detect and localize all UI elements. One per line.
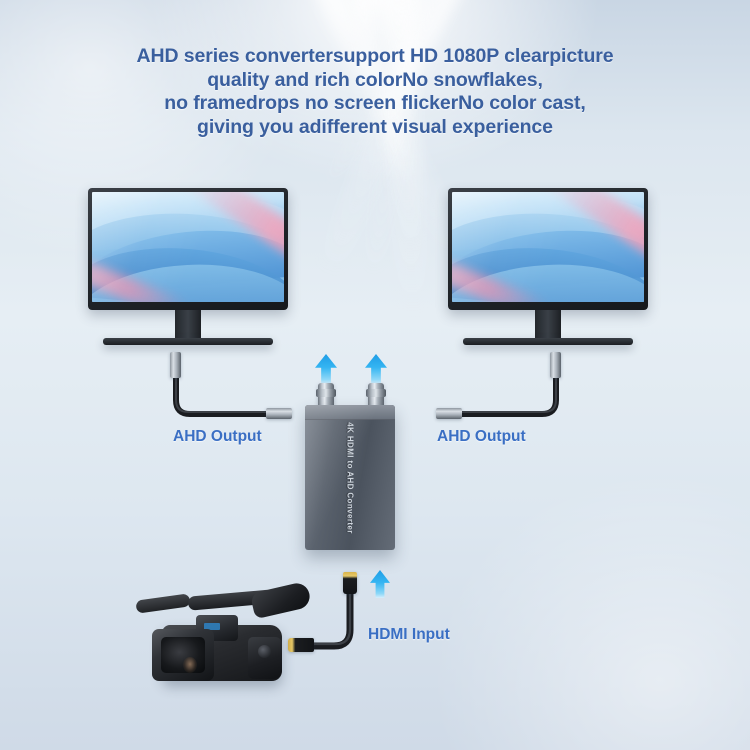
camera-microphone (135, 593, 190, 613)
monitor-stand-neck (535, 310, 561, 340)
monitor-left (88, 188, 288, 310)
monitor-right (448, 188, 648, 310)
bnc-cable-right (452, 368, 556, 414)
light-ray (314, 0, 467, 280)
label-ahd-output-right: AHD Output (437, 428, 526, 446)
converter-model-label: 4K HDMI to AHD Converter (346, 422, 355, 534)
camera-control-dial (258, 645, 271, 658)
monitor-bezel (448, 188, 648, 310)
camera-lens-hood (152, 629, 214, 681)
camera-lens-glint (183, 657, 197, 673)
label-hdmi-input: HDMI Input (368, 626, 450, 644)
bnc-cable-left (176, 368, 272, 414)
arrow-up-icon (370, 570, 390, 598)
headline-text: AHD series convertersupport HD 1080P cle… (0, 45, 750, 139)
bnc-plug-converter-right (436, 408, 462, 419)
converter-top-panel (305, 405, 395, 420)
corner-glow-bottom-right (430, 470, 750, 750)
monitor-screen (92, 192, 284, 302)
monitor-screen (452, 192, 644, 302)
bnc-plug-monitor-right (550, 352, 561, 378)
product-infographic: AHD series convertersupport HD 1080P cle… (0, 0, 750, 750)
camera-viewfinder (250, 581, 312, 619)
camera-lens (161, 637, 205, 673)
monitor-stand-base (463, 338, 633, 345)
monitor-bezel (88, 188, 288, 310)
arrow-up-icon (365, 354, 387, 384)
bnc-cable-left-highlight (176, 368, 270, 412)
arrow-up-icon (315, 354, 337, 384)
bnc-plug-converter-left (266, 408, 292, 419)
monitor-stand-neck (175, 310, 201, 340)
bnc-cable-right-highlight (454, 368, 556, 412)
camera-hand-grip (248, 637, 282, 679)
camcorder (140, 585, 340, 695)
monitor-stand-base (103, 338, 273, 345)
label-ahd-output-left: AHD Output (173, 428, 262, 446)
converter-device: 4K HDMI to AHD Converter (305, 405, 395, 550)
hdmi-plug-converter (343, 572, 357, 594)
bnc-plug-monitor-left (170, 352, 181, 378)
